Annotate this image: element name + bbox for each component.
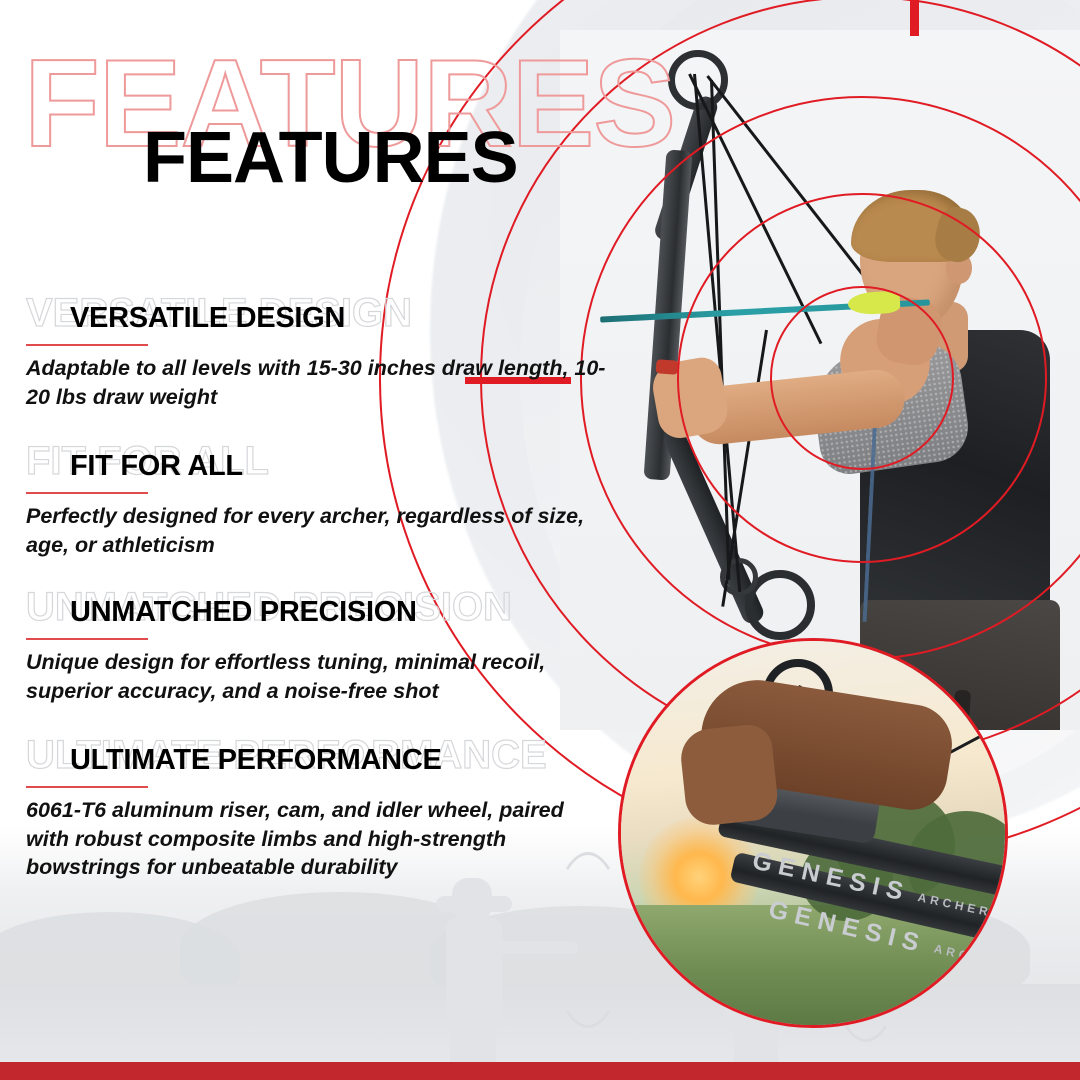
feature-description: Perfectly designed for every archer, reg… — [26, 502, 611, 559]
feature-heading: ULTIMATE PERFORMANCE — [70, 746, 442, 775]
bottom-accent-bar — [0, 1062, 1080, 1080]
feature-heading-wrap: UNMATCHED PRECISION UNMATCHED PRECISION — [26, 586, 626, 638]
feature-heading-wrap: FIT FOR ALL FIT FOR ALL — [26, 440, 626, 492]
feature-heading-wrap: VERSATILE DESIGN VERSATILE DESIGN — [26, 292, 626, 344]
feature-heading: FIT FOR ALL — [70, 452, 243, 481]
inset-product-photo: GENESIS ARCHERY GENESIS ARCHERY — [618, 638, 1008, 1028]
feature-underline — [26, 492, 148, 494]
feature-heading: VERSATILE DESIGN — [70, 304, 345, 333]
feature-underline — [26, 344, 148, 346]
feature-underline — [26, 638, 148, 640]
inset-archer-fist — [678, 722, 780, 827]
feature-item-unmatched-precision: UNMATCHED PRECISION UNMATCHED PRECISION … — [26, 586, 626, 638]
feature-item-ultimate-performance: ULTIMATE PERFORMANCE ULTIMATE PERFORMANC… — [26, 734, 626, 786]
feature-description: 6061-T6 aluminum riser, cam, and idler w… — [26, 796, 611, 882]
feature-heading: UNMATCHED PRECISION — [70, 598, 417, 627]
feature-item-versatile-design: VERSATILE DESIGN VERSATILE DESIGN Adapta… — [26, 292, 626, 344]
feature-description: Unique design for effortless tuning, min… — [26, 648, 611, 705]
feature-heading-wrap: ULTIMATE PERFORMANCE ULTIMATE PERFORMANC… — [26, 734, 626, 786]
target-tick-top — [910, 0, 919, 36]
page-title: FEATURES — [143, 122, 518, 194]
feature-poster: GENESIS ARCHERY GENESIS ARCHERY FEATURES… — [0, 0, 1080, 1080]
feature-item-fit-for-all: FIT FOR ALL FIT FOR ALL Perfectly design… — [26, 440, 626, 492]
feature-description: Adaptable to all levels with 15-30 inche… — [26, 354, 611, 411]
feature-underline — [26, 786, 148, 788]
